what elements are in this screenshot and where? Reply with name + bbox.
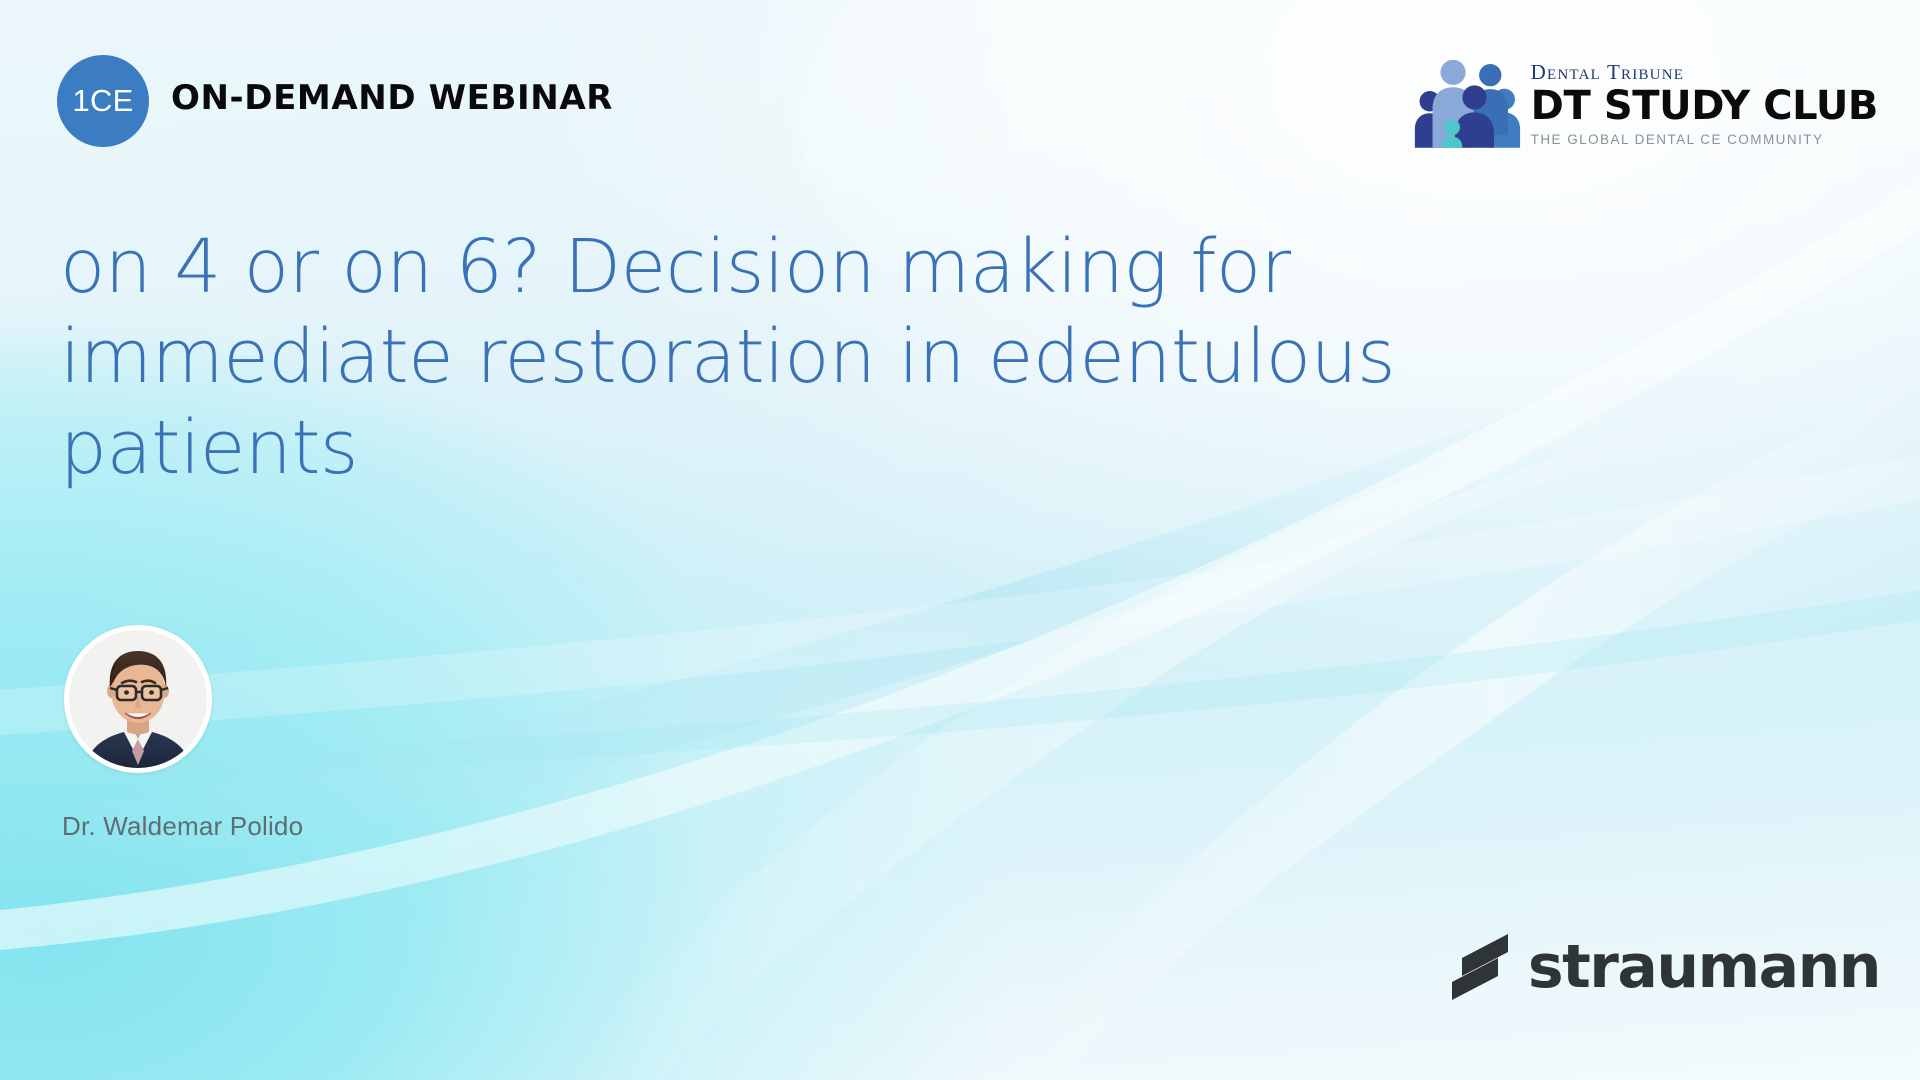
dt-study-club-wordmark: Dental Tribune DT STUDY CLUB THE GLOBAL … (1531, 62, 1878, 149)
dt-study-club-title: DT STUDY CLUB (1531, 86, 1878, 126)
avatar (64, 625, 212, 773)
webinar-kicker-label: ON-DEMAND WEBINAR (171, 78, 613, 118)
webinar-title-line-1: on 4 or on 6? Decision making for (60, 222, 1520, 312)
dental-tribune-brand: Dental Tribune (1531, 62, 1684, 83)
people-group-icon (1413, 60, 1521, 148)
presenter-block: Dr. Waldemar Polido (60, 625, 480, 842)
webinar-title: on 4 or on 6? Decision making for immedi… (60, 222, 1520, 493)
dt-study-club-tagline: THE GLOBAL DENTAL CE COMMUNITY (1531, 133, 1824, 147)
banner-header: 1CE ON-DEMAND WEBINAR (0, 0, 1920, 190)
straumann-s-mark (1448, 932, 1512, 1002)
presenter-avatar-photo (64, 625, 212, 773)
straumann-wordmark: straumann (1528, 937, 1880, 997)
webinar-banner: 1CE ON-DEMAND WEBINAR (0, 0, 1920, 1080)
straumann-logo: straumann (1448, 932, 1880, 1002)
presenter-name: Dr. Waldemar Polido (62, 811, 480, 842)
dt-study-club-logo: Dental Tribune DT STUDY CLUB THE GLOBAL … (1413, 50, 1878, 148)
ce-credit-badge: 1CE (57, 55, 149, 147)
ce-credit-label: 1CE (73, 85, 134, 116)
webinar-title-line-2: immediate restoration in edentulous (60, 312, 1520, 402)
webinar-title-line-3: patients (60, 403, 1520, 493)
